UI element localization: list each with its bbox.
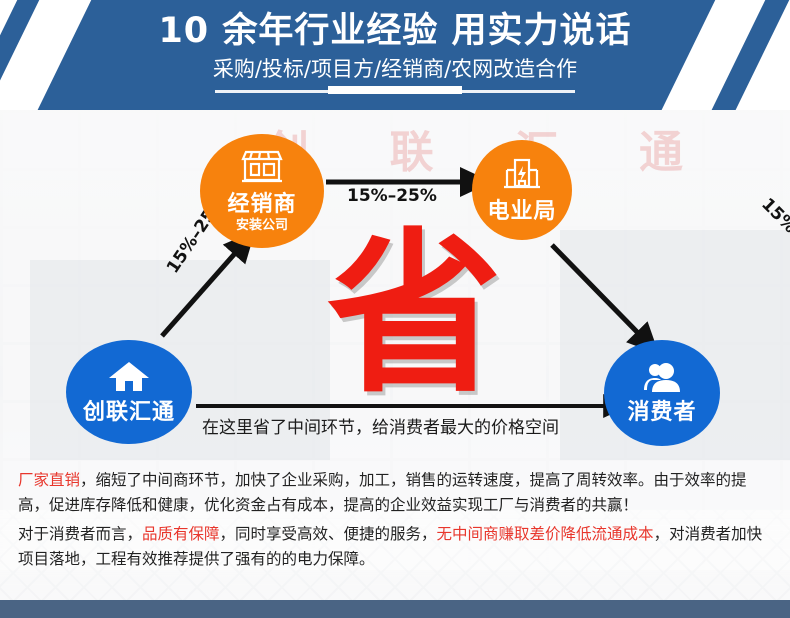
node-power-bureau-label: 电业局 bbox=[487, 200, 556, 224]
arrow-label-dealer-to-power: 15%–25% bbox=[347, 186, 437, 206]
node-consumer-label: 消费者 bbox=[627, 401, 696, 425]
node-consumer[interactable]: 消费者 bbox=[604, 340, 720, 446]
copy-paragraph-2: 对于消费者而言，品质有保障，同时享受高效、便捷的服务，无中间商赚取差价降低流通成… bbox=[18, 522, 774, 572]
node-dealer-sub: 安装公司 bbox=[236, 218, 288, 234]
users-icon bbox=[640, 362, 684, 398]
node-dealer-label: 经销商 bbox=[227, 193, 296, 217]
copy-p2-b: ，同时享受高效、便捷的服务， bbox=[220, 525, 437, 543]
center-save-character: 省 bbox=[327, 228, 502, 403]
node-factory-label: 创联汇通 bbox=[83, 401, 175, 425]
node-power-bureau[interactable]: 电业局 bbox=[472, 140, 572, 240]
factory-home-icon bbox=[107, 360, 151, 398]
shop-icon bbox=[238, 148, 286, 190]
copy-p2-a: 对于消费者而言， bbox=[18, 525, 142, 543]
node-factory[interactable]: 创联汇通 bbox=[66, 340, 192, 444]
power-bureau-icon bbox=[501, 157, 543, 197]
copy-p1-rest: ，缩短了中间商环节，加快了企业采购，加工，销售的运转速度，提高了周转效率。由于效… bbox=[18, 471, 747, 514]
arrow-power-to-consumer bbox=[552, 245, 641, 336]
promo-banner: 10 余年行业经验 用实力说话 采购/投标/项目方/经销商/农网改造合作 创 联… bbox=[0, 0, 790, 618]
node-dealer[interactable]: 经销商 安装公司 bbox=[200, 134, 324, 248]
footer-bar bbox=[0, 600, 790, 618]
copy-p2-highlight-2: 无中间商赚取差价降低流通成本 bbox=[437, 525, 654, 543]
copy-p2-highlight-1: 品质有保障 bbox=[142, 525, 220, 543]
copy-paragraph-1: 厂家直销，缩短了中间商环节，加快了企业采购，加工，销售的运转速度，提高了周转效率… bbox=[18, 468, 774, 518]
copy-p1-highlight: 厂家直销 bbox=[18, 471, 80, 489]
